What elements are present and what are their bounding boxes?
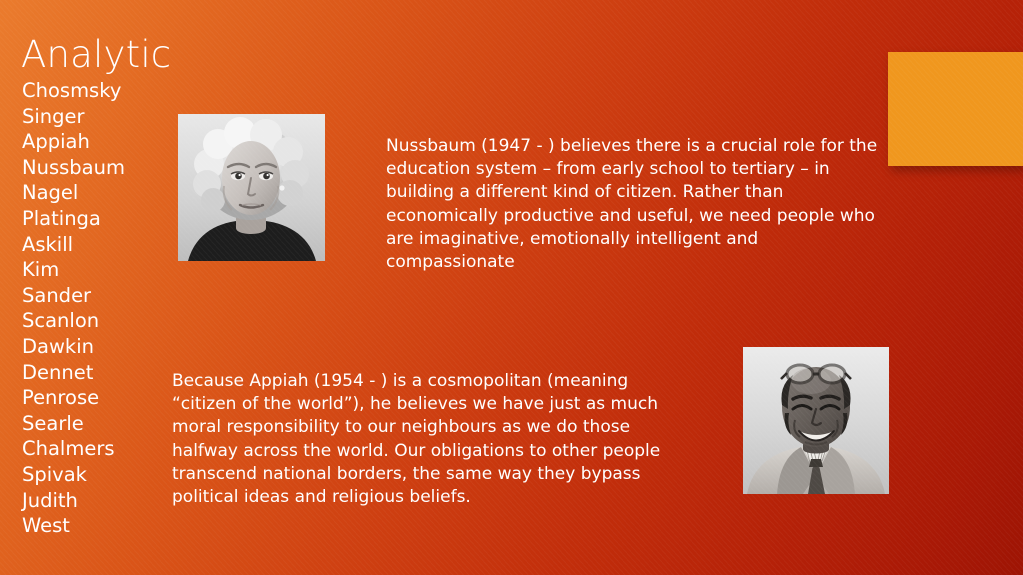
list-item: Dennet	[22, 360, 182, 386]
list-item: Spivak	[22, 462, 182, 488]
list-item: Chalmers	[22, 436, 182, 462]
decorative-accent-rectangle	[888, 52, 1023, 166]
nussbaum-description-text: Nussbaum (1947 - ) believes there is a c…	[386, 135, 882, 274]
list-item: Appiah	[22, 129, 182, 155]
list-item: Scanlon	[22, 308, 182, 334]
presentation-slide: Analytic Chosmsky Singer Appiah Nussbaum…	[0, 0, 1023, 575]
list-item: Searle	[22, 411, 182, 437]
list-item: Nussbaum	[22, 155, 182, 181]
appiah-description-text: Because Appiah (1954 - ) is a cosmopolit…	[172, 370, 664, 509]
nussbaum-portrait-image	[178, 114, 325, 261]
list-item: Chosmsky	[22, 78, 182, 104]
page-title: Analytic	[21, 33, 171, 77]
list-item: Penrose	[22, 385, 182, 411]
list-item: Askill	[22, 232, 182, 258]
list-item: Judith	[22, 488, 182, 514]
list-item: Platinga	[22, 206, 182, 232]
list-item: Dawkin	[22, 334, 182, 360]
list-item: Kim	[22, 257, 182, 283]
appiah-portrait-image	[743, 347, 889, 494]
list-item: Singer	[22, 104, 182, 130]
list-item: Sander	[22, 283, 182, 309]
list-item: Nagel	[22, 180, 182, 206]
philosopher-name-list: Chosmsky Singer Appiah Nussbaum Nagel Pl…	[22, 78, 182, 539]
list-item: West	[22, 513, 182, 539]
